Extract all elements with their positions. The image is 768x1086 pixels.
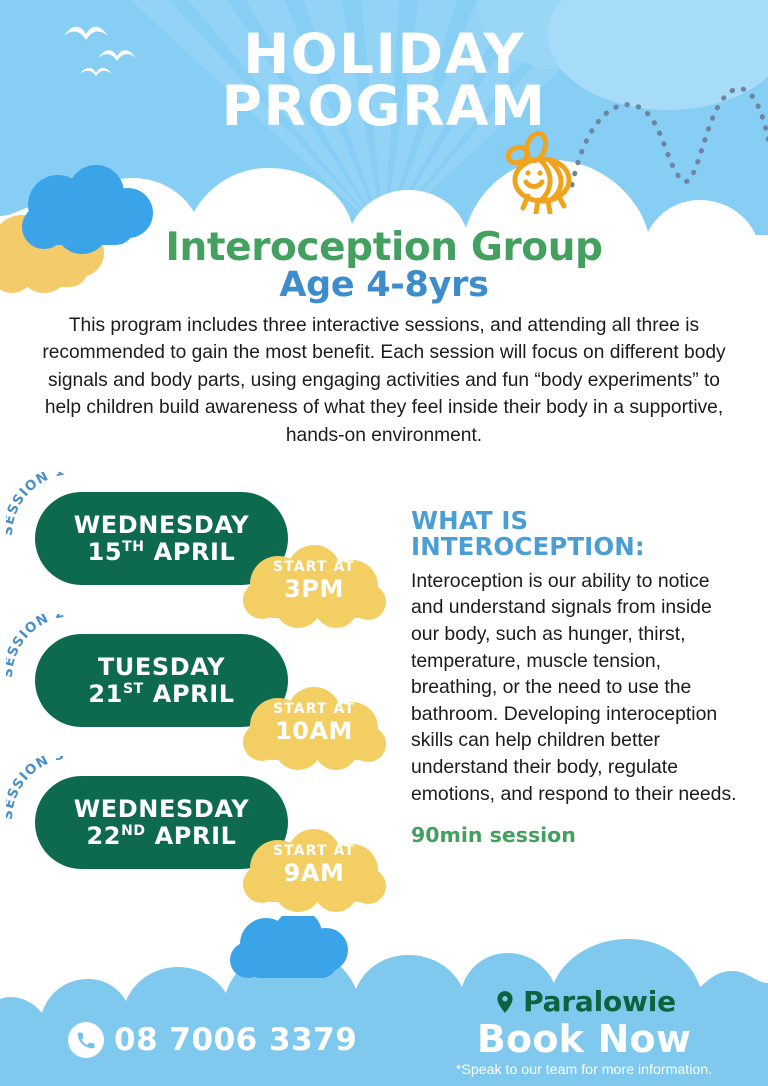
start-at-label: START AT [240, 701, 388, 719]
session-month: APRIL [153, 680, 235, 708]
session-date: 22ND APRIL [87, 823, 237, 850]
book-now-button[interactable]: Book Now [400, 1020, 768, 1060]
phone-number: 08 7006 3379 [114, 1022, 357, 1058]
session-time-cloud-3: START AT 9AM [240, 826, 388, 912]
session-label-2: SESSION 2 [6, 614, 126, 684]
poster-title: HOLIDAY PROGRAM [0, 28, 768, 133]
session-date: 15TH APRIL [88, 539, 236, 566]
session-time-text: START AT 9AM [240, 843, 388, 886]
session-time-cloud-2: START AT 10AM [240, 684, 388, 770]
intro-paragraph: This program includes three interactive … [34, 312, 734, 449]
session-month: APRIL [155, 822, 237, 850]
svg-text:SESSION 1: SESSION 1 [6, 472, 66, 536]
footer-accent-cloud [222, 916, 362, 978]
session-item: SESSION 1 WEDNESDAY 15TH APRIL [0, 470, 400, 610]
what-is-heading-line-1: WHAT IS [411, 508, 741, 534]
session-date: 21ST APRIL [88, 681, 234, 708]
bee-icon [500, 128, 586, 214]
session-time-text: START AT 10AM [240, 701, 388, 744]
session-duration-note: 90min session [411, 823, 741, 847]
booking-disclaimer: *Speak to our team for more information. [400, 1062, 768, 1078]
session-time-cloud-1: START AT 3PM [240, 542, 388, 628]
location-row: Paralowie [400, 985, 768, 1018]
map-pin-icon [492, 989, 518, 1015]
poster: HOLIDAY PROGRAM Interoception Group Age … [0, 0, 768, 1086]
svg-text:SESSION 3: SESSION 3 [6, 756, 66, 820]
what-is-body-text: Interoception is our ability to notice a… [411, 568, 741, 807]
sessions-list: SESSION 1 WEDNESDAY 15TH APRIL [0, 470, 400, 910]
session-label-3: SESSION 3 [6, 756, 126, 826]
session-item: SESSION 3 WEDNESDAY 22ND APRIL [0, 754, 400, 894]
program-subheading: Interoception Group Age 4-8yrs [0, 228, 768, 304]
start-time-value: 3PM [240, 577, 388, 602]
title-line-1: HOLIDAY [0, 28, 768, 80]
location-name: Paralowie [523, 985, 676, 1018]
booking-block: Paralowie Book Now *Speak to our team fo… [400, 985, 768, 1078]
what-is-heading: WHAT IS INTEROCEPTION: [411, 508, 741, 561]
what-is-interoception-section: WHAT IS INTEROCEPTION: Interoception is … [411, 508, 741, 847]
start-time-value: 10AM [240, 719, 388, 744]
footer: 08 7006 3379 Paralowie Book Now *Speak t… [0, 921, 768, 1086]
session-month: APRIL [154, 538, 236, 566]
program-age-range: Age 4-8yrs [0, 267, 768, 304]
program-name: Interoception Group [0, 228, 768, 267]
phone-contact[interactable]: 08 7006 3379 [68, 1022, 357, 1058]
start-at-label: START AT [240, 843, 388, 861]
start-time-value: 9AM [240, 861, 388, 886]
start-at-label: START AT [240, 559, 388, 577]
session-label-text: SESSION 1 [6, 472, 66, 536]
title-line-2: PROGRAM [0, 80, 768, 132]
session-label-1: SESSION 1 [6, 472, 126, 542]
what-is-heading-line-2: INTEROCEPTION: [411, 534, 741, 560]
svg-text:SESSION 2: SESSION 2 [6, 614, 66, 678]
session-label-text: SESSION 2 [6, 614, 66, 678]
session-date-suffix: ST [123, 681, 144, 697]
session-time-text: START AT 3PM [240, 559, 388, 602]
session-label-text: SESSION 3 [6, 756, 66, 820]
phone-icon [68, 1022, 104, 1058]
session-item: SESSION 2 TUESDAY 21ST APRIL [0, 612, 400, 752]
